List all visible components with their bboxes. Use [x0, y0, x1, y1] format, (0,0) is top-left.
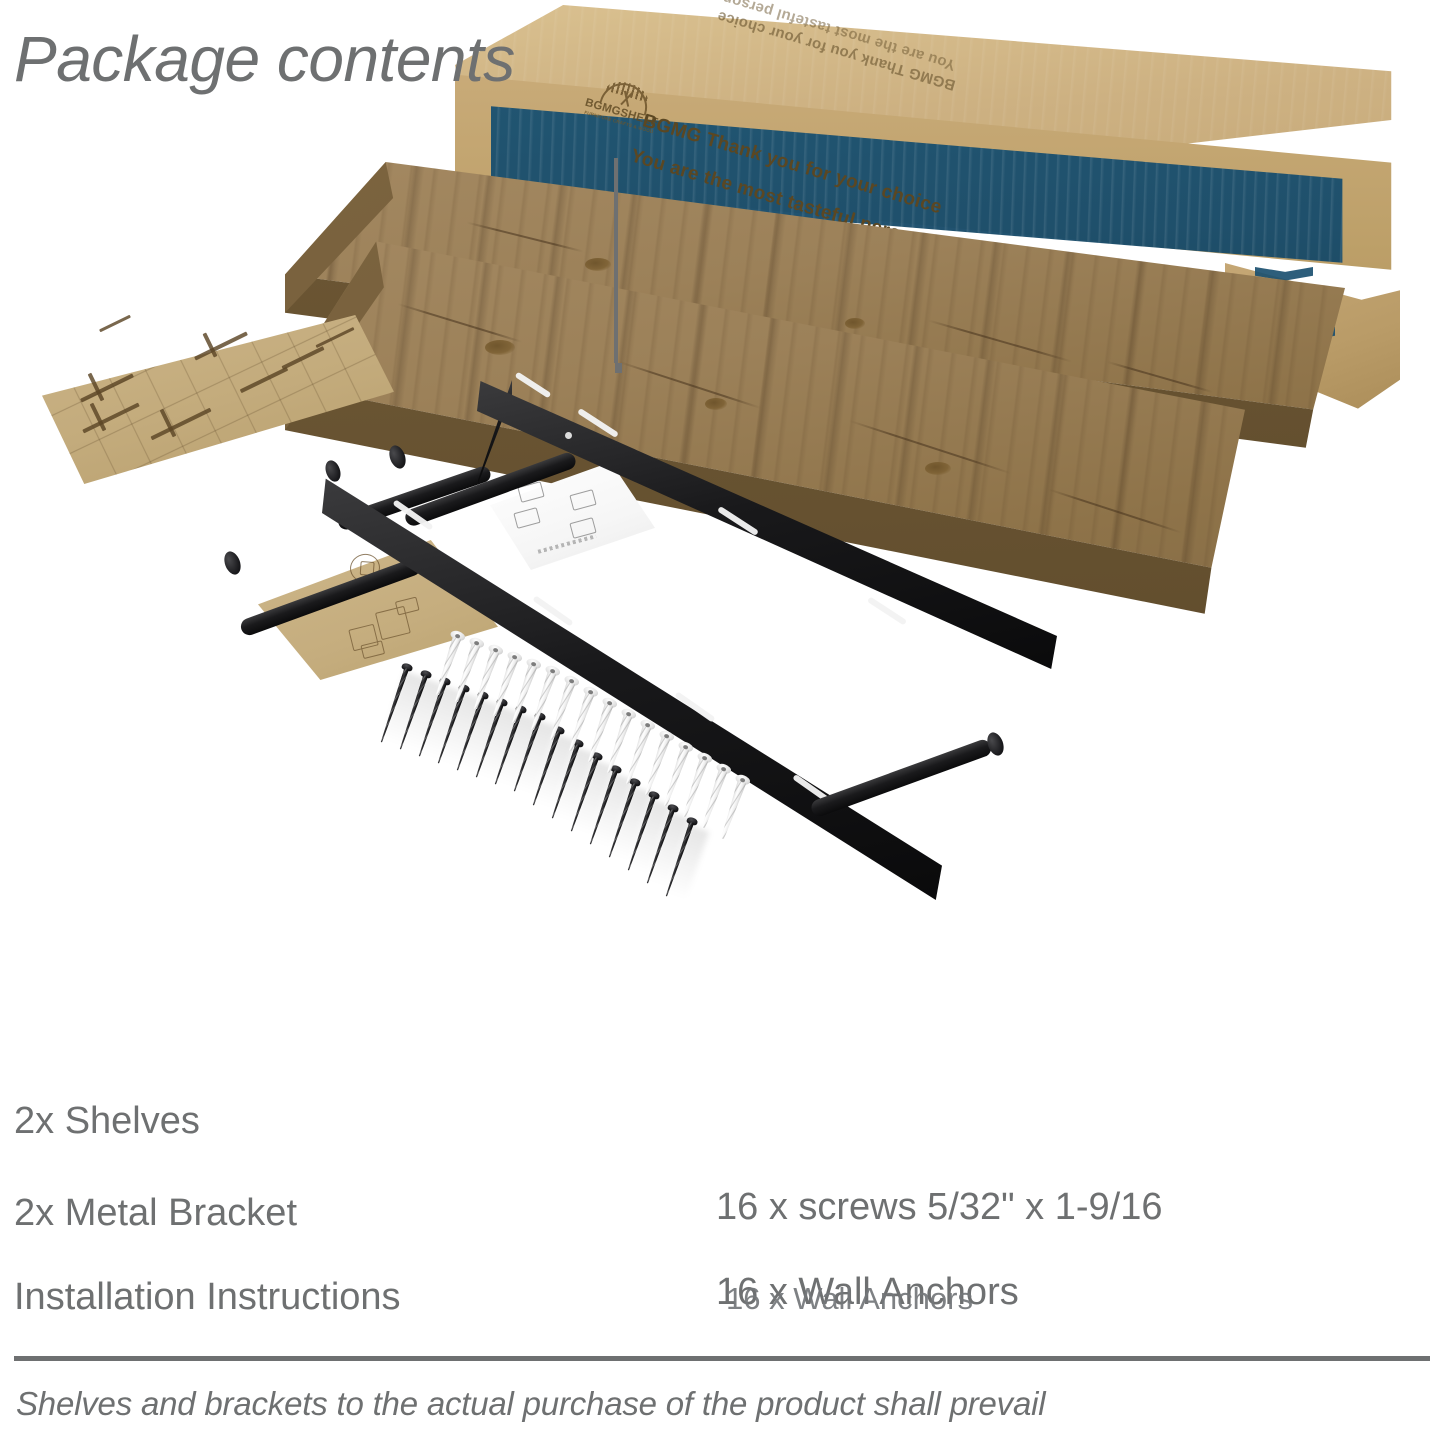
- horizontal-rule: [14, 1356, 1430, 1361]
- contents-item-screws: 16 x screws 5/32" x 1-9/16: [716, 1186, 1162, 1229]
- contents-item-installation-instructions: Installation Instructions: [14, 1276, 401, 1319]
- product-photo: BGMGSHELF FURNITURE CRAFTS & WOOD BGMG T…: [0, 0, 1445, 945]
- sheet-diagram-bracket: [99, 315, 131, 333]
- bracket-screw-hole: [565, 432, 572, 439]
- contents-item-shelves: 2x Shelves: [14, 1100, 200, 1143]
- wood-knot: [485, 340, 515, 355]
- column-divider: [614, 158, 618, 363]
- bracket-arm-tip: [221, 549, 243, 577]
- bracket-vertical-arm: [239, 557, 423, 638]
- contents-item-wall-anchors-duplicate: 16 x Wall Anchors: [726, 1281, 973, 1317]
- page-title: Package contents: [14, 22, 515, 96]
- bracket-mounting-slot: [515, 372, 552, 399]
- disclaimer-note: Shelves and brackets to the actual purch…: [16, 1385, 1045, 1423]
- column-divider-dot: [615, 363, 622, 373]
- contents-item-metal-bracket: 2x Metal Bracket: [14, 1192, 297, 1235]
- bracket-vertical-arm: [809, 738, 993, 819]
